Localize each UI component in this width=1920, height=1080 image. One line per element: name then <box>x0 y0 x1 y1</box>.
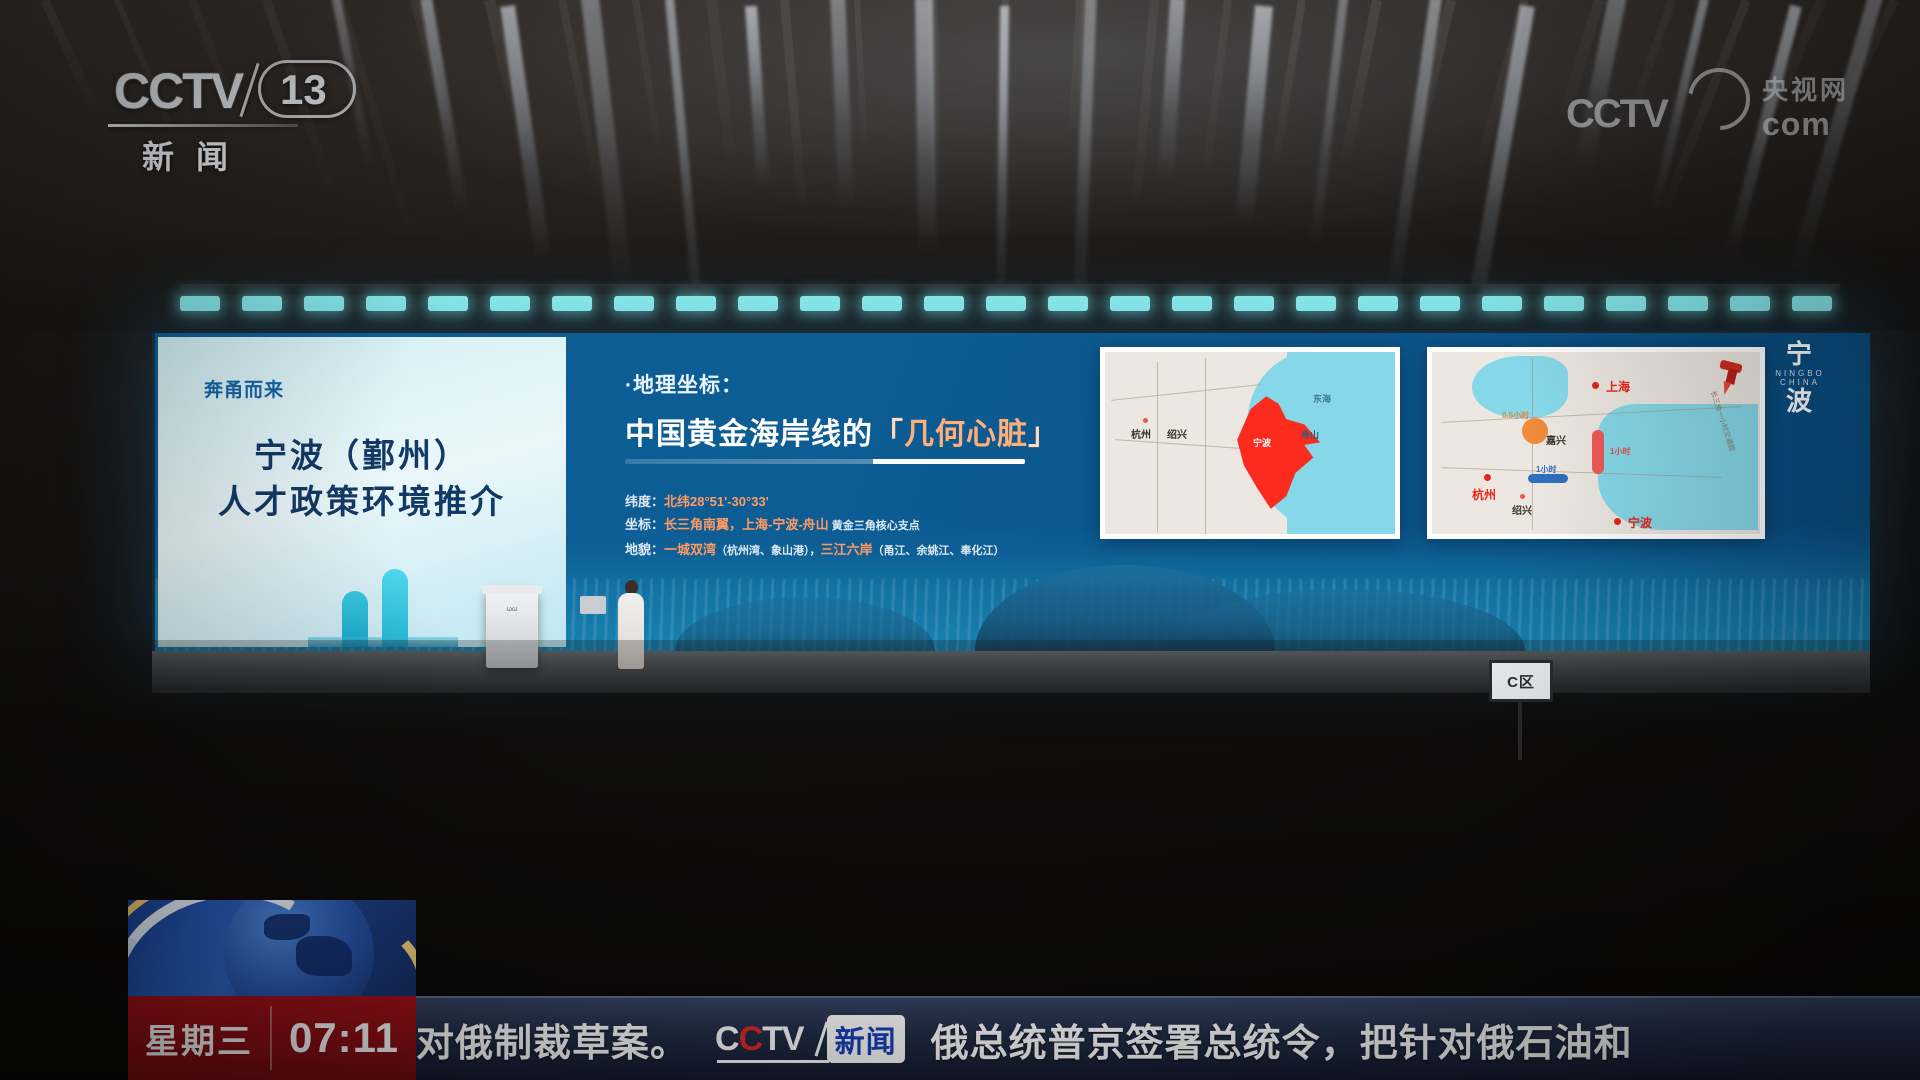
lower-third: 星期三 07:11 对俄制裁草案。 CCTV 新闻 俄总统普京签署总统令，把针对… <box>0 900 1920 1080</box>
map-ningbo-region: 杭州 绍兴 宁波 舟山 东海 <box>1105 352 1395 534</box>
geo-row-value-2: 三江六岸 <box>821 542 873 557</box>
geo-row-value: 北纬28°51'-30°33' <box>664 494 769 509</box>
geo-row-value: 长三角南翼，上海-宁波-舟山 <box>664 517 829 532</box>
slide-title-line-1: 宁波（鄞州） <box>158 433 566 479</box>
led-pill <box>1296 296 1336 311</box>
channel-bug-slash <box>239 63 259 117</box>
map-card-yrd-traffic: 上海 杭州 宁波 嘉兴 绍兴 0.5小时 1小时 1小时 <box>1427 347 1765 539</box>
map-dot-hangzhou <box>1484 474 1491 481</box>
geo-row-key: 纬度： <box>625 494 664 509</box>
geo-row-value-rest: （杭州湾、象山港）， <box>716 545 821 557</box>
broadcast-frame: 奔甬而来 宁波（鄞州） 人才政策环境推介 ·地理坐标： 中国黄金海岸线的「几何心… <box>0 0 1920 1080</box>
map-dot-ningbo <box>1614 518 1621 525</box>
geo-row-latitude: 纬度：北纬28°51'-30°33' <box>625 490 1095 513</box>
slide-geo-block: ·地理坐标： 中国黄金海岸线的「几何心脏」 纬度：北纬28°51'-30°33'… <box>625 369 1095 563</box>
geo-row-key: 地貌： <box>625 542 664 557</box>
led-pill <box>1668 296 1708 311</box>
led-pill <box>428 296 468 311</box>
ticker-logo-brand-red: C <box>739 1020 763 1058</box>
led-pill <box>800 296 840 311</box>
led-pill <box>1048 296 1088 311</box>
clock-weekday: 星期三 <box>128 1014 270 1063</box>
watermark-chinese: 央视网 <box>1762 70 1849 107</box>
slide-kicker: 奔甬而来 <box>204 375 284 402</box>
slide-title: 宁波（鄞州） 人才政策环境推介 <box>158 433 566 524</box>
stage-monitor <box>580 596 606 614</box>
stage-led-screen: 奔甬而来 宁波（鄞州） 人才政策环境推介 ·地理坐标： 中国黄金海岸线的「几何心… <box>152 333 1870 651</box>
led-pill <box>1606 296 1646 311</box>
led-pill <box>180 296 220 311</box>
led-pill <box>986 296 1026 311</box>
clock-graphic <box>128 900 416 996</box>
ticker-headline: 俄总统普京签署总统令，把针对俄石油和 <box>931 1012 1633 1067</box>
map-label-hangzhou: 杭州 <box>1131 426 1151 441</box>
lectern-top <box>482 585 542 594</box>
map-sea-area <box>1598 404 1758 530</box>
map-label-zhoushan: 舟山 <box>1301 428 1319 441</box>
tower-right <box>382 569 408 647</box>
map-road <box>1205 358 1206 534</box>
channel-bug-brand: CCTV <box>114 62 242 120</box>
ticker-logo-brand: CCTV <box>715 1020 816 1059</box>
ticker-logo-underbar <box>717 1060 829 1063</box>
geo-row-landform: 地貌：一城双湾（杭州湾、象山港），三江六岸（甬江、余姚江、奉化江） <box>625 538 1095 563</box>
geo-underline <box>625 459 1025 464</box>
ticker-lead-text: 对俄制裁草案。 <box>416 1012 689 1067</box>
map-dot-shaoxing <box>1520 494 1525 499</box>
ticker-logo-news: 新闻 <box>827 1015 905 1063</box>
ticker-logo-slash <box>814 1021 828 1056</box>
led-accent-strip <box>180 296 1840 322</box>
channel-bug-row: CCTV 13 <box>108 58 358 120</box>
geo-row-key: 坐标： <box>625 517 664 532</box>
map-corridor-blue <box>1528 474 1568 483</box>
channel-bug-number: 13 <box>280 66 327 114</box>
map-label-ningbo: 宁波 <box>1628 514 1652 531</box>
led-pill <box>242 296 282 311</box>
led-pill <box>924 296 964 311</box>
map-pin-tip <box>1721 381 1732 396</box>
clock-time: 07:11 <box>272 1014 416 1062</box>
map-time-label-0: 0.5小时 <box>1502 410 1529 421</box>
geo-detail-rows: 纬度：北纬28°51'-30°33' 坐标：长三角南翼，上海-宁波-舟山 黄金三… <box>625 490 1095 563</box>
led-pill <box>1544 296 1584 311</box>
map-label-ningbo: 宁波 <box>1253 436 1271 449</box>
geo-headline-highlight: 几何心脏 <box>904 418 1028 451</box>
slide-title-line-2: 人才政策环境推介 <box>158 479 566 525</box>
led-pill <box>1110 296 1150 311</box>
geo-row-value-rest-2: （甬江、余姚江、奉化江） <box>873 545 1005 557</box>
map-corridor-red <box>1592 430 1604 474</box>
clock-block: 星期三 07:11 <box>128 900 416 1080</box>
led-pill <box>862 296 902 311</box>
map-dot-hangzhou <box>1143 418 1148 423</box>
map-bay-hangzhou <box>1472 356 1568 418</box>
section-sign-pole <box>1518 702 1522 760</box>
map-time-label-1: 1小时 <box>1610 446 1630 457</box>
ticker-cctv-news-logo: CCTV 新闻 <box>715 1015 905 1063</box>
geo-row-value-rest: 黄金三角核心支点 <box>829 520 920 532</box>
slide-tower-graphic <box>308 561 458 647</box>
map-label-hangzhou: 杭州 <box>1472 486 1496 503</box>
led-pill <box>1482 296 1522 311</box>
led-pill <box>1172 296 1212 311</box>
led-pill <box>552 296 592 311</box>
map-pin-icon <box>1716 362 1746 396</box>
ningbo-brand-logo: 宁 NINGBO CHINA 波 <box>1754 341 1846 416</box>
channel-bug-underline <box>108 124 298 127</box>
geo-row-coordinates: 坐标：长三角南翼，上海-宁波-舟山 黄金三角核心支点 <box>625 513 1095 538</box>
map-label-jiaxing: 嘉兴 <box>1546 432 1566 447</box>
geo-headline-plain: 中国黄金海岸线的 <box>625 418 873 451</box>
led-pill <box>1420 296 1460 311</box>
geo-section-label: ·地理坐标： <box>625 369 1095 399</box>
cctv-com-watermark: CCTV 央视网 com <box>1566 64 1866 150</box>
map-label-east-sea: 东海 <box>1313 392 1331 405</box>
led-pill <box>614 296 654 311</box>
channel-bug-name: 新闻 <box>142 132 250 178</box>
geo-bracket-open: 「 <box>873 418 904 451</box>
map-dot-shanghai <box>1592 382 1599 389</box>
map-card-ningbo-region: 杭州 绍兴 宁波 舟山 东海 <box>1100 347 1400 539</box>
map-label-shaoxing: 绍兴 <box>1512 502 1532 517</box>
channel-bug: CCTV 13 新闻 <box>108 58 358 170</box>
section-sign: C区 <box>1489 660 1553 702</box>
led-mount-bar <box>180 284 1840 294</box>
led-pill <box>1234 296 1274 311</box>
led-pill <box>366 296 406 311</box>
geo-row-value: 一城双湾 <box>664 542 716 557</box>
ningbo-logo-char-top: 宁 <box>1754 341 1846 368</box>
led-pill <box>1792 296 1832 311</box>
ningbo-logo-english: NINGBO CHINA <box>1754 369 1846 387</box>
watermark-suffix: com <box>1762 106 1831 143</box>
led-pill <box>676 296 716 311</box>
led-pill <box>738 296 778 311</box>
map-road <box>1111 384 1260 401</box>
lectern-label: ωω <box>486 606 538 613</box>
map-label-shaoxing: 绍兴 <box>1167 426 1187 441</box>
led-pill <box>1358 296 1398 311</box>
geo-headline: 中国黄金海岸线的「几何心脏」 <box>625 409 1095 453</box>
news-ticker[interactable]: 对俄制裁草案。 CCTV 新闻 俄总统普京签署总统令，把针对俄石油和 <box>416 996 1920 1080</box>
map-yrd-traffic: 上海 杭州 宁波 嘉兴 绍兴 0.5小时 1小时 1小时 <box>1432 352 1760 534</box>
watermark-ring-icon <box>1688 68 1750 130</box>
led-pill <box>304 296 344 311</box>
led-pill <box>490 296 530 311</box>
geo-bracket-close: 」 <box>1028 418 1059 451</box>
map-time-label-2: 1小时 <box>1536 464 1556 475</box>
led-pill <box>1730 296 1770 311</box>
watermark-brand: CCTV <box>1566 92 1667 137</box>
map-label-shanghai: 上海 <box>1606 378 1630 395</box>
ningbo-logo-char-bottom: 波 <box>1754 388 1846 415</box>
map-road <box>1157 362 1158 532</box>
clock-bar: 星期三 07:11 <box>128 996 416 1080</box>
